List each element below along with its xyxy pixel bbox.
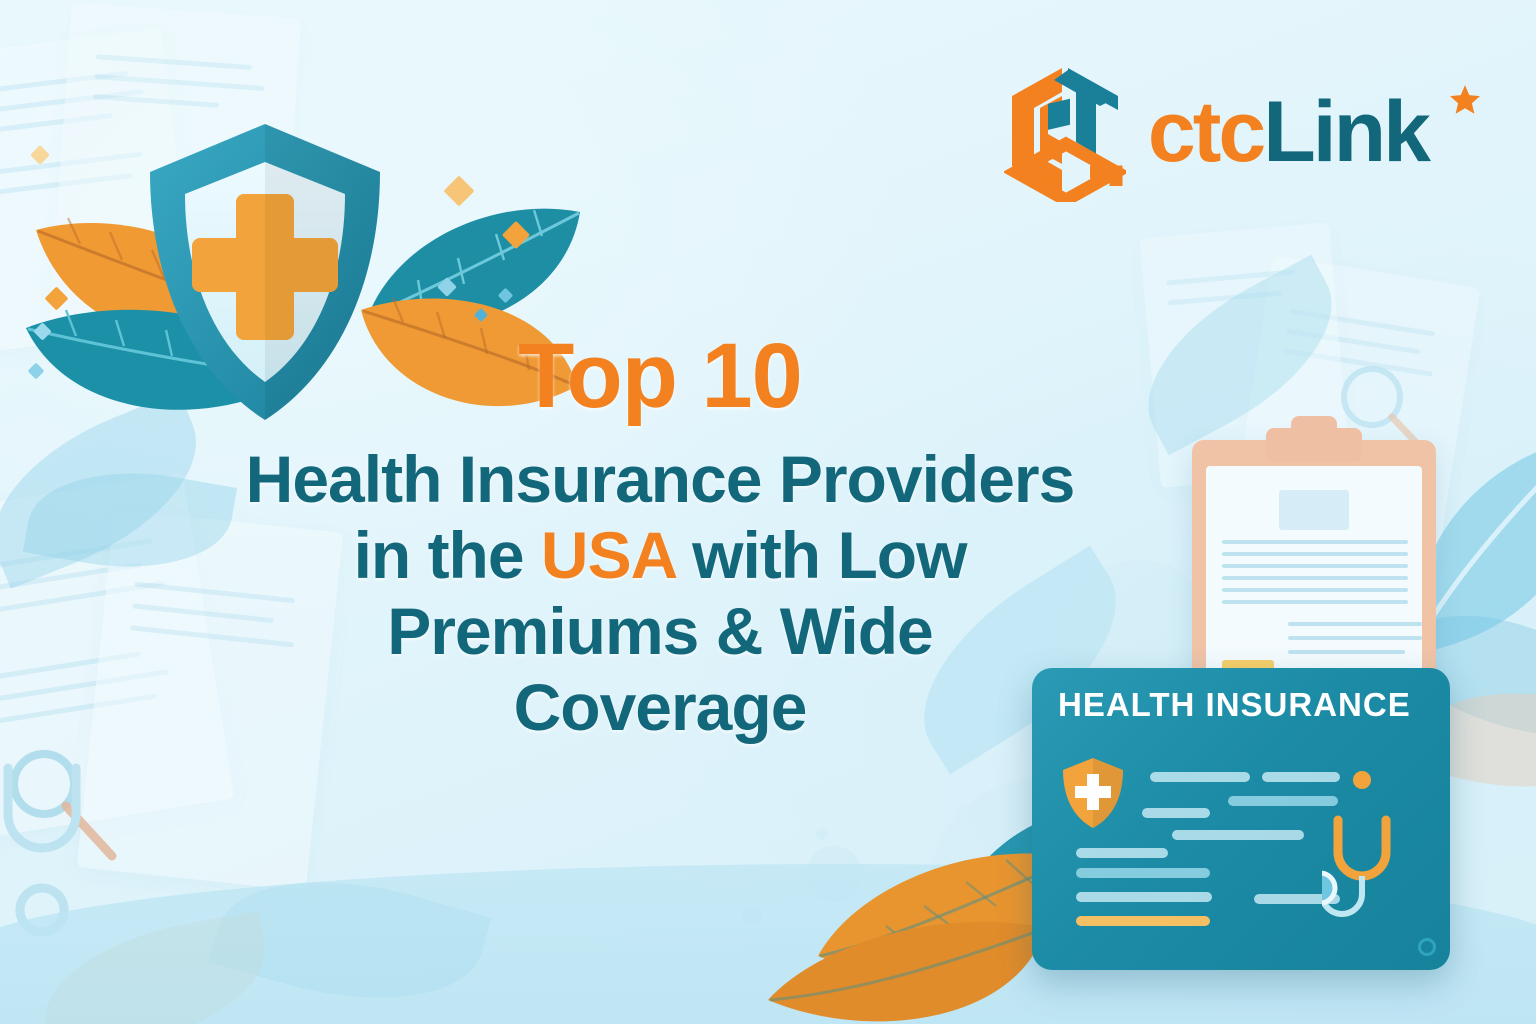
brand-logo[interactable]: ctcLink [1004,62,1428,202]
health-insurance-card: HEALTH INSURANCE [1032,668,1450,970]
confetti-square [30,145,50,165]
headline-line-2: in the USA with Low [150,518,1170,594]
decorative-circle [742,906,762,926]
headline-line-3: Premiums & Wide [150,594,1170,670]
ghost-leaf [208,846,491,1024]
card-accent-line [1076,916,1210,926]
clipboard-paper-tab [1279,490,1349,530]
paper-line [1222,588,1408,592]
paper-line [1222,540,1408,544]
headline-line-4: Coverage [150,670,1170,746]
paper-line [1288,622,1422,626]
ghost-stethoscope-icon [0,760,130,960]
paper-line [1288,636,1422,640]
headline-line-1: Health Insurance Providers [150,442,1170,518]
card-placeholder-line [1076,892,1212,902]
ghost-leaf [32,911,278,1024]
ctclink-cube-monogram-icon [1004,62,1126,202]
headline-kicker: Top 10 [150,330,1170,424]
decorative-circle [816,828,828,840]
decorative-leaf-orange [758,900,1058,1024]
card-placeholder-line [1172,830,1304,840]
card-title: HEALTH INSURANCE [1058,686,1411,724]
card-placeholder-line [1150,772,1250,782]
paper-line [1222,564,1408,568]
headline-line-2-prefix: in the [354,518,541,592]
ghost-magnifier-icon [0,740,130,870]
card-corner-detail [1418,938,1436,956]
card-body: HEALTH INSURANCE [1032,668,1450,970]
clipboard-clip [1266,428,1362,462]
wordmark-ctc: ctc [1148,84,1263,180]
card-placeholder-line [1142,808,1210,818]
paper-line [1222,552,1408,556]
wordmark-link: Link [1263,84,1428,180]
brand-wordmark: ctcLink [1148,89,1428,175]
banner-stage: ctcLink Top 10 Health Insurance Provider… [0,0,1536,1024]
star-icon [1448,83,1482,117]
card-shield-cross-icon [1060,756,1126,830]
paper-line [1288,650,1405,654]
headline-block: Top 10 Health Insurance Providers in the… [150,330,1170,745]
headline-line-2-suffix: with Low [675,518,967,592]
paper-line [1222,600,1408,604]
card-placeholder-line [1076,868,1210,878]
card-placeholder-line [1076,848,1168,858]
stethoscope-icon [1322,764,1432,924]
headline-accent-usa: USA [541,518,675,592]
paper-line [1222,576,1408,580]
decorative-circle [806,846,862,902]
